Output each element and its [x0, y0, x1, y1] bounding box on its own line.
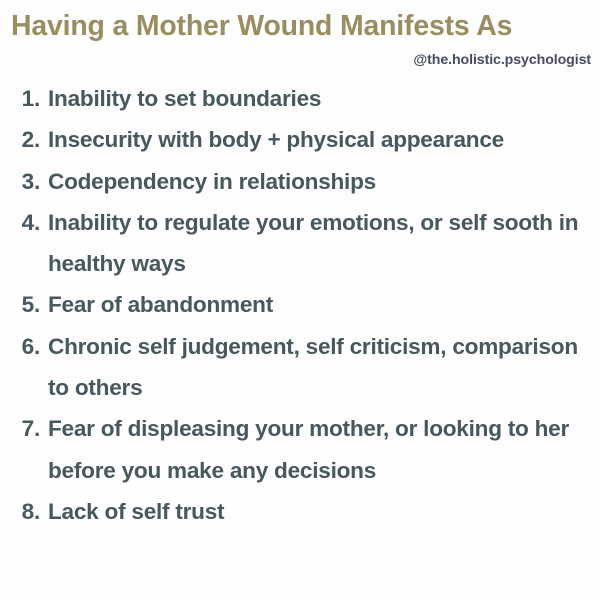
list-item-label: Inability to regulate your emotions, or … — [48, 202, 594, 285]
list-item-label: Chronic self judgement, self criticism, … — [48, 326, 594, 409]
author-handle: @the.holistic.psychologist — [413, 52, 591, 69]
infographic-card: Having a Mother Wound Manifests As @the.… — [0, 0, 600, 600]
list-item-label: Fear of abandonment — [48, 284, 594, 325]
list-item-number: 7. — [0, 408, 40, 449]
list-item: 8.Lack of self trust — [0, 491, 600, 532]
list-item: 2.Insecurity with body + physical appear… — [0, 119, 600, 160]
list-item-number: 8. — [0, 491, 40, 532]
list-item: 7.Fear of displeasing your mother, or lo… — [0, 408, 600, 491]
list-item: 4.Inability to regulate your emotions, o… — [0, 202, 600, 285]
list-item-number: 6. — [0, 326, 40, 367]
list-item-number: 3. — [0, 161, 40, 202]
list-item-number: 5. — [0, 284, 40, 325]
page-title: Having a Mother Wound Manifests As — [11, 9, 595, 43]
list-item-number: 2. — [0, 119, 40, 160]
list-item-number: 1. — [0, 78, 40, 119]
list-item: 3.Codependency in relationships — [0, 161, 600, 202]
list-item: 1.Inability to set boundaries — [0, 78, 600, 119]
list-item-label: Fear of displeasing your mother, or look… — [48, 408, 594, 491]
list-item: 6.Chronic self judgement, self criticism… — [0, 326, 600, 409]
list-item-label: Insecurity with body + physical appearan… — [48, 119, 594, 160]
manifestation-list: 1.Inability to set boundaries2.Insecurit… — [0, 78, 600, 532]
list-item-label: Inability to set boundaries — [48, 78, 594, 119]
list-item-label: Codependency in relationships — [48, 161, 594, 202]
list-item: 5.Fear of abandonment — [0, 284, 600, 325]
list-item-number: 4. — [0, 202, 40, 243]
list-item-label: Lack of self trust — [48, 491, 594, 532]
